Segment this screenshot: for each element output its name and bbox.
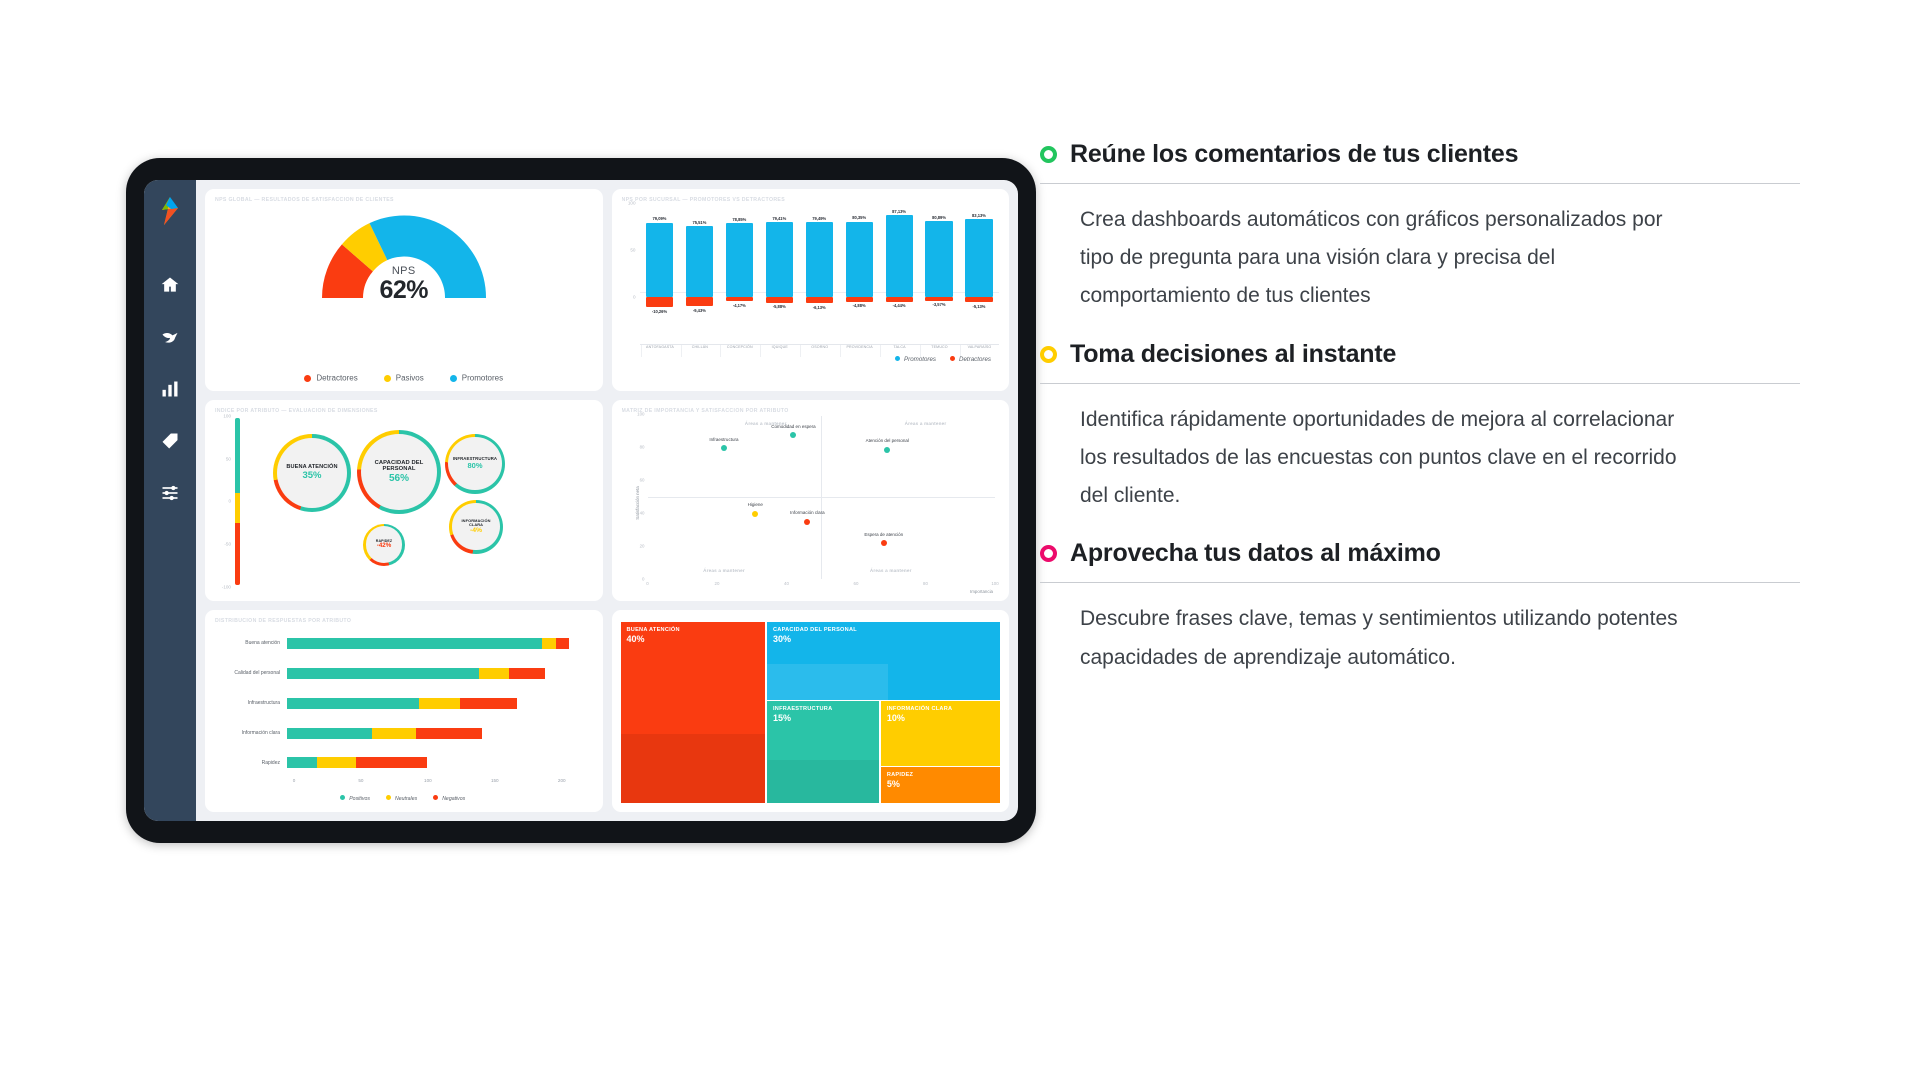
donut-value: -4% [470,527,482,534]
bar-segment[interactable] [287,638,542,649]
status-ring-icon [1040,346,1057,363]
dashboard-grid: NPS GLOBAL — RESULTADOS DE SATISFACCION … [196,180,1018,821]
bar-track [287,728,589,739]
scatter-point[interactable] [804,519,810,525]
bar-detractores[interactable] [925,297,952,300]
bar-segment[interactable] [509,668,545,679]
sidebar-item-reports[interactable] [159,378,181,400]
card-attribute-index: INDICE POR ATRIBUTO — EVALUACION DE DIME… [205,400,603,602]
treemap-tile-value: 15% [773,713,873,725]
bar-group[interactable]: 80,89%-3,57% [923,203,955,345]
donut-5[interactable]: RAPIDEZ-42% [363,524,405,566]
scatter-point-label: Información clara [790,510,825,515]
legend-label: Positivos [349,796,370,802]
donut-value: 35% [302,471,321,481]
bar-row[interactable]: Buena atención [213,638,589,649]
legend-label: Detractores [959,356,991,363]
x-tick-label: IQUIQUE [760,345,798,357]
legend-dot-detractores [304,375,311,382]
x-tick: 20 [715,581,720,586]
bar-group[interactable]: 79,41%-5,88% [763,203,795,345]
treemap-tile[interactable]: RAPIDEZ5% [881,767,1000,803]
legend-item: Promotores [450,373,503,382]
quadrant-label: Áreas a mantener [703,568,745,573]
donut-3[interactable]: INFRAESTRUCTURA80% [445,434,505,494]
feature-item-2: Toma decisiones al instante Identifica r… [1040,340,1800,540]
column-chart: 100500 79,09%-10,26%75,51%-9,43%78,85%-4… [620,203,1002,367]
bar-segment[interactable] [556,638,570,649]
donut-center: INFORMACIÓN CLARA-4% [452,503,500,551]
feature-header: Aprovecha tus datos al máximo [1040,539,1800,582]
donut-center: INFRAESTRUCTURA80% [448,437,501,490]
tag-icon [160,431,180,451]
x-tick: 150 [491,778,499,783]
donut-center: RAPIDEZ-42% [366,526,403,563]
donut-2[interactable]: CAPACIDAD DEL PERSONAL56% [357,430,441,514]
y-tick: 100 [223,413,231,418]
card-nps-by-branch: NPS POR SUCURSAL — PROMOTORES VS DETRACT… [612,189,1010,391]
feature-header: Reúne los comentarios de tus clientes [1040,140,1800,183]
bar-row-label: Calidad del personal [213,670,287,676]
treemap-tile-label: BUENA ATENCIÓN [627,627,759,634]
bar-group[interactable]: 75,51%-9,43% [683,203,715,345]
column-legend: Promotores Detractores [895,356,991,363]
bar-row[interactable]: Infraestructura [213,698,589,709]
bar-segment[interactable] [287,668,479,679]
treemap-subdivision [767,664,888,700]
bar-segment[interactable] [356,757,427,768]
scatter-point-label: Comodidad en espera [771,424,815,429]
scatter-point-label: Espera de atención [864,532,903,537]
treemap-tile[interactable]: BUENA ATENCIÓN40% [621,622,765,803]
donut-center: CAPACIDAD DEL PERSONAL56% [361,434,437,510]
feature-body: Identifica rápidamente oportunidades de … [1040,384,1680,540]
quadrant-label: Áreas a mantener [870,568,912,573]
y-tick: 20 [640,544,645,549]
bar-row-label: Buena atención [213,640,287,646]
donut-label: INFORMACIÓN CLARA [454,519,498,528]
treemap-tile-value: 5% [887,779,994,791]
treemap: BUENA ATENCIÓN40%CAPACIDAD DEL PERSONAL3… [621,622,1001,803]
bar-detractores[interactable] [846,297,873,302]
scatter-chart: Satisfacción neta Importancia 1008060402… [622,414,1000,594]
bar-rows: Buena atenciónCalidad del personalInfrae… [213,628,589,778]
sidebar-item-home[interactable] [159,274,181,296]
card-topic-treemap: BUENA ATENCIÓN40%CAPACIDAD DEL PERSONAL3… [612,610,1010,812]
y-tick: 0 [228,499,231,504]
x-tick-label: CONCEPCIÓN [720,345,758,357]
nps-value: 62% [309,277,499,303]
scatter-point[interactable] [752,511,758,517]
feature-item-3: Aprovecha tus datos al máximo Descubre f… [1040,539,1800,676]
bar-group[interactable]: 83,13%-5,13% [963,203,995,345]
feature-title: Reúne los comentarios de tus clientes [1070,140,1518,169]
bar-segment[interactable] [372,728,416,739]
x-tick: 100 [424,778,432,783]
bar-segment[interactable] [419,698,460,709]
bar-track [287,698,589,709]
bar-promotores[interactable] [766,222,793,297]
stacked-bar-legend: Positivos Neutrales Negativos [213,795,593,802]
legend-item: Detractores [304,373,357,382]
x-axis: 050100150200 [294,778,589,788]
feature-body: Crea dashboards automáticos con gráficos… [1040,184,1680,340]
feature-title: Aprovecha tus datos al máximo [1070,539,1441,568]
x-tick-label: CHILLÁN [681,345,719,357]
color-scale-bar [235,418,240,586]
quadrant-vline [821,416,822,580]
legend-item: Promotores [895,356,936,363]
y-tick: 0 [642,577,644,582]
scatter-point-label: Atención del personal [866,438,909,443]
legend-item: Pasivos [384,373,424,382]
brand-logo-icon[interactable] [157,196,183,226]
y-axis: 100500-50-100 [213,416,233,588]
app-sidebar [144,180,196,821]
legend-label: Promotores [904,356,936,363]
x-tick: 0 [293,778,296,783]
scatter-point-label: Higiene [748,502,763,507]
feature-item-1: Reúne los comentarios de tus clientes Cr… [1040,140,1800,340]
bar-detractores[interactable] [965,297,992,302]
bar-detractores[interactable] [646,297,673,307]
treemap-tile[interactable]: CAPACIDAD DEL PERSONAL30% [767,622,1000,700]
legend-label: Detractores [316,374,357,383]
legend-dot-pasivos [384,375,391,382]
scatter-point[interactable] [721,445,727,451]
treemap-tile-value: 40% [627,634,759,646]
bar-chart-icon [160,379,180,399]
x-tick-label: PROVIDENCIA [840,345,878,357]
treemap-tile-label: INFRAESTRUCTURA [773,706,873,713]
bar-promotores[interactable] [846,222,873,298]
bird-icon [160,327,180,347]
legend-item: Negativos [433,795,465,802]
y-tick: 80 [640,444,645,449]
bar-segment[interactable] [479,668,509,679]
bar-track [287,638,589,649]
scatter-point-label: Infraestructura [709,437,738,442]
y-axis: 100806040200 [630,414,646,580]
y-tick: 40 [640,511,645,516]
treemap-tile-value: 30% [773,634,994,646]
treemap-tile-label: CAPACIDAD DEL PERSONAL [773,627,994,634]
donut-value: -42% [377,543,391,550]
bar-value-label: -5,13% [943,304,1009,309]
y-tick: -100 [222,585,231,590]
plot-area: Áreas a mantener Áreas a mantener Áreas … [648,416,996,580]
sliders-icon [160,483,180,503]
nps-label: NPS [309,265,499,277]
legend-item: Positivos [340,795,370,802]
x-tick-label: ANTOFAGASTA [641,345,679,357]
bar-row[interactable]: Calidad del personal [213,668,589,679]
bar-segment[interactable] [317,757,355,768]
donut-4[interactable]: INFORMACIÓN CLARA-4% [449,500,503,554]
y-tick: 60 [640,477,645,482]
bar-detractores[interactable] [726,297,753,301]
legend-dot-promotores [450,375,457,382]
legend-label: Pasivos [396,374,424,383]
bar-promotores[interactable] [726,223,753,297]
scatter-point[interactable] [790,432,796,438]
donut-label: CAPACIDAD DEL PERSONAL [363,460,435,473]
bar-row-label: Rapidez [213,760,287,766]
x-tick: 0 [646,581,648,586]
bar-row-label: Información clara [213,730,287,736]
nps-gauge: NPS 62% [205,203,603,303]
legend-label: Promotores [462,374,503,383]
y-tick: 0 [633,295,636,300]
bar-promotores[interactable] [806,222,833,297]
y-tick: -50 [224,542,231,547]
bar-promotores[interactable] [646,223,673,298]
donut-value: 80% [467,462,482,470]
treemap-subdivision [621,734,765,803]
donut-bubbles: 100500-50-100 BUENA ATENCIÓN35%CAPACIDAD… [213,412,595,594]
bar-group[interactable]: 80,35%-4,88% [843,203,875,345]
legend-item: Detractores [950,356,991,363]
bar-promotores[interactable] [925,221,952,297]
feature-list: Reúne los comentarios de tus clientes Cr… [1040,140,1800,677]
page-root: NPS GLOBAL — RESULTADOS DE SATISFACCION … [0,0,1920,1080]
treemap-tile-label: RAPIDEZ [887,772,994,779]
bar-row-label: Infraestructura [213,700,287,706]
plot-area: 79,09%-10,26%75,51%-9,43%78,85%-4,17%79,… [640,203,1000,345]
x-axis-label: Importancia [970,589,993,594]
status-ring-icon [1040,545,1057,562]
y-tick: 100 [628,201,636,206]
bar-detractores[interactable] [886,297,913,301]
x-axis: 020406080100 [648,581,996,589]
x-tick: 200 [558,778,566,783]
treemap-tile-label: INFORMACIÓN CLARA [887,706,994,713]
legend-item: Neutrales [386,795,417,802]
bar-track [287,668,589,679]
x-tick: 80 [923,581,928,586]
bar-detractores[interactable] [766,297,793,303]
card-response-distribution: DISTRIBUCION DE RESPUESTAS POR ATRIBUTO … [205,610,603,812]
sidebar-item-feedback[interactable] [159,326,181,348]
sidebar-item-tags[interactable] [159,430,181,452]
bar-row[interactable]: Rapidez [213,757,589,768]
tablet-screen: NPS GLOBAL — RESULTADOS DE SATISFACCION … [144,180,1018,821]
sidebar-item-settings[interactable] [159,482,181,504]
bar-group[interactable]: 79,49%-6,13% [803,203,835,345]
treemap-tile-value: 10% [887,713,994,725]
home-icon [160,275,180,295]
donut-value: 56% [389,473,409,484]
bar-segment[interactable] [287,728,372,739]
treemap-subdivision [767,760,879,803]
bar-series: 79,09%-10,26%75,51%-9,43%78,85%-4,17%79,… [640,203,1000,345]
feature-header: Toma decisiones al instante [1040,340,1800,383]
card-nps-gauge: NPS GLOBAL — RESULTADOS DE SATISFACCION … [205,189,603,391]
y-tick: 50 [630,248,635,253]
bar-detractores[interactable] [806,297,833,303]
legend-label: Neutrales [395,796,417,802]
y-tick: 100 [637,411,644,416]
status-ring-icon [1040,146,1057,163]
feature-title: Toma decisiones al instante [1070,340,1396,369]
bar-row[interactable]: Información clara [213,728,589,739]
scatter-point[interactable] [884,447,890,453]
feature-body: Descubre frases clave, temas y sentimien… [1040,583,1680,676]
nps-legend: Detractores Pasivos Promotores [205,373,603,382]
bar-track [287,757,589,768]
x-tick: 40 [784,581,789,586]
y-axis: 100500 [620,203,638,345]
bar-promotores[interactable] [686,226,713,297]
bar-segment[interactable] [460,698,518,709]
stacked-bar-chart: Buena atenciónCalidad del personalInfrae… [213,624,593,804]
treemap-tile[interactable]: INFRAESTRUCTURA15% [767,701,879,803]
bar-promotores[interactable] [965,219,992,298]
bar-group[interactable]: 87,13%-4,44% [883,203,915,345]
quadrant-label: Áreas a mantener [905,421,947,426]
legend-label: Negativos [442,796,465,802]
bar-group[interactable]: 78,85%-4,17% [723,203,755,345]
tablet-frame: NPS GLOBAL — RESULTADOS DE SATISFACCION … [126,158,1036,843]
treemap-tile[interactable]: INFORMACIÓN CLARA10% [881,701,1000,766]
bar-segment[interactable] [287,698,419,709]
x-tick: 50 [358,778,363,783]
scatter-point[interactable] [881,540,887,546]
x-tick: 60 [854,581,859,586]
bar-value-label: 83,13% [943,213,1009,218]
x-tick: 100 [991,581,998,586]
bar-segment[interactable] [416,728,482,739]
x-tick-label: OSORNO [800,345,838,357]
y-tick: 50 [226,456,231,461]
bar-segment[interactable] [287,757,317,768]
bar-promotores[interactable] [886,215,913,297]
donut-1[interactable]: BUENA ATENCIÓN35% [273,434,351,512]
card-importance-matrix: MATRIZ DE IMPORTANCIA Y SATISFACCION POR… [612,400,1010,602]
bar-segment[interactable] [542,638,556,649]
donut-center: BUENA ATENCIÓN35% [277,438,347,508]
